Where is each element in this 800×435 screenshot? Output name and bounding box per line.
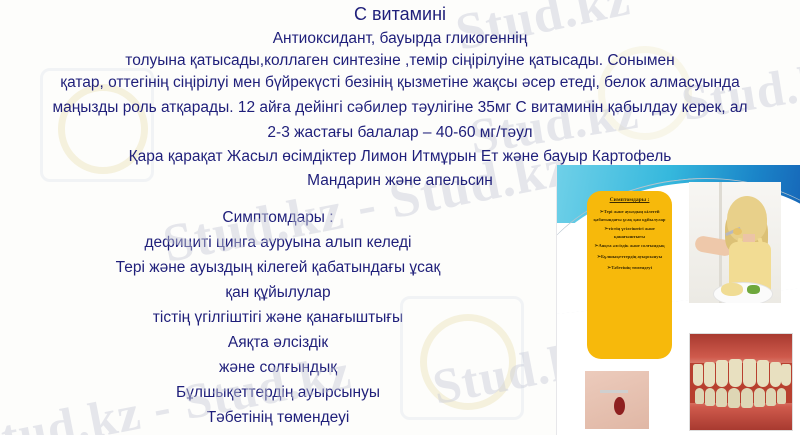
symptom-item: Аяқта әлсіздік	[0, 330, 556, 355]
symptom-item: тістің үгілгіштігі және қанағыштығы	[0, 305, 556, 330]
callout-item: ➢Тері және ауыздың кілегей қабатындағы ұ…	[591, 209, 668, 223]
callout-item-label: Аяқта әлсіздік және солғындық	[598, 243, 664, 248]
callout-item: ➢Бұлшықеттердің ауырсынуы	[591, 254, 668, 262]
page-title: С витамині	[0, 2, 800, 27]
callout-item: ➢Тәбетінің төмендеуі	[591, 265, 668, 273]
body-line-4: маңызды роль атқарады. 12 айға дейінгі с…	[0, 95, 800, 120]
symptom-item: қан құйылулар	[0, 280, 556, 305]
slide-canvas: Stud.kz Stud.kz - Stud.kz Stud.kz - Stud…	[0, 0, 800, 435]
callout-item-label: Тәбетінің төмендеуі	[611, 265, 652, 270]
symptoms-heading: Симптомдары :	[0, 205, 556, 230]
callout-item-label: Бұлшықеттердің ауырсынуы	[601, 254, 662, 259]
symptom-item: дефициті цинга ауруына алып келеді	[0, 230, 556, 255]
symptoms-callout-box: Симптомдары : ➢Тері және ауыздың кілегей…	[587, 191, 672, 359]
callout-item: ➢тістің үгілгіштігі және қанағыштығы	[591, 226, 668, 240]
skin-bruise-photo	[585, 371, 649, 429]
callout-item: ➢Аяқта әлсіздік және солғындық	[591, 243, 668, 251]
body-line-3: қатар, оттегінің сіңірілуі мен бүйрекүст…	[0, 70, 800, 95]
callout-item-label: тістің үгілгіштігі және қанағыштығы	[608, 226, 654, 239]
symptom-item: Тәбетінің төмендеуі	[0, 405, 556, 430]
gums-teeth-photo	[689, 333, 793, 431]
illustration-panel: Симптомдары : ➢Тері және ауыздың кілегей…	[556, 165, 800, 435]
callout-item-label: Тері және ауыздың кілегей қабатындағы ұс…	[594, 209, 666, 222]
callout-heading: Симптомдары :	[591, 196, 668, 204]
symptom-item: Тері және ауыздың кілегей қабатындағы ұс…	[0, 255, 556, 280]
girl-eating-photo	[689, 182, 781, 303]
symptom-item: және солғындық	[0, 355, 556, 380]
body-line-5: 2-3 жастағы балалар – 40-60 мг/тәул	[0, 120, 800, 145]
symptom-item: Бұлшықеттердің ауырсынуы	[0, 380, 556, 405]
